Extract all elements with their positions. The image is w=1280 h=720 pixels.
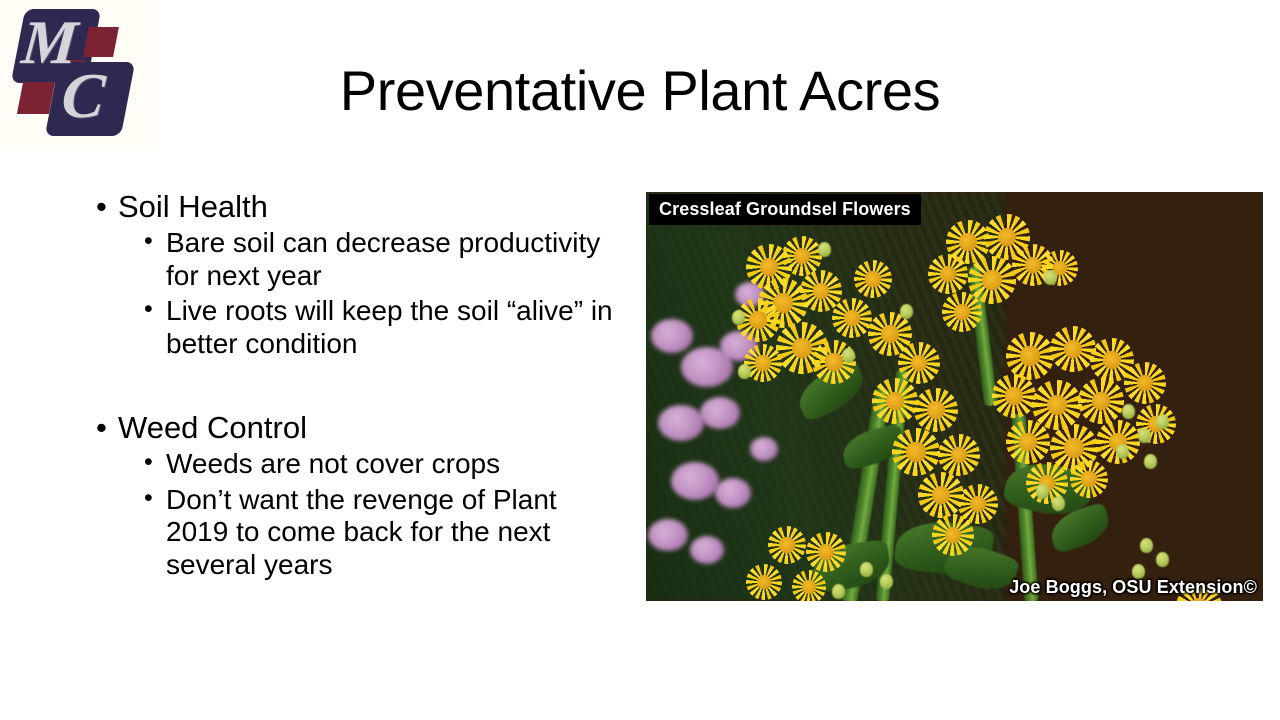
sub-bullet-text: Don’t want the revenge of Plant 2019 to …	[166, 484, 557, 580]
bullet-list-level-2-weed-control: • Weeds are not cover crops • Don’t want…	[118, 448, 620, 581]
photo-flower-bud	[1044, 270, 1057, 285]
photo-flower-bud	[1052, 496, 1065, 511]
photo-flower	[932, 514, 974, 556]
photo-flower-bud	[732, 310, 745, 325]
photo-credit-label: Joe Boggs, OSU Extension©	[1009, 578, 1257, 596]
photo-flower	[1050, 326, 1096, 372]
bullet-label: Soil Health	[118, 189, 268, 224]
bullet-glyph: •	[144, 226, 153, 256]
sub-bullet-item: • Don’t want the revenge of Plant 2019 t…	[139, 484, 620, 581]
bullet-glyph: •	[96, 188, 107, 225]
photo-flower	[892, 428, 940, 476]
sub-bullet-item: • Live roots will keep the soil “alive” …	[139, 295, 620, 360]
logo-accent-square-top	[83, 27, 119, 57]
photo-flower	[928, 254, 968, 294]
photo-flower-bud	[832, 584, 845, 599]
photo-flower-bud	[738, 364, 751, 379]
sub-bullet-text: Bare soil can decrease productivity for …	[166, 227, 600, 290]
photo-flower-bud	[1036, 484, 1049, 499]
photo-flower	[832, 298, 872, 338]
bullet-glyph: •	[144, 483, 153, 513]
photo-flower	[872, 378, 918, 424]
sub-bullet-item: • Weeds are not cover crops	[139, 448, 620, 480]
photo-flower	[938, 434, 980, 476]
organization-logo: M C	[0, 0, 158, 150]
photo-flower	[1078, 378, 1124, 424]
slide-canvas: M C Preventative Plant Acres • Soil Heal…	[0, 0, 1280, 720]
photo-flower	[918, 472, 964, 518]
photo-flower-bud	[842, 348, 855, 363]
photo-flower-bud	[860, 562, 873, 577]
photo-flower	[898, 342, 940, 384]
photo-flower	[854, 260, 892, 298]
bullet-glyph: •	[96, 409, 107, 446]
photo-flower-bud	[1156, 552, 1169, 567]
bullet-glyph: •	[144, 447, 153, 477]
photo-flower	[1006, 420, 1050, 464]
photo-flower-bud	[1140, 538, 1153, 553]
photo-flower-bud	[1116, 444, 1129, 459]
cressleaf-groundsel-photo: Cressleaf Groundsel Flowers Joe Boggs, O…	[646, 192, 1263, 601]
photo-flower	[1124, 362, 1166, 404]
bullet-item-soil-health: • Soil Health • Bare soil can decrease p…	[90, 188, 620, 360]
bullet-glyph: •	[144, 294, 153, 324]
photo-flower	[806, 532, 846, 572]
photo-flower-bud	[818, 242, 831, 257]
photo-flower	[1006, 332, 1054, 380]
bullet-content-column: • Soil Health • Bare soil can decrease p…	[90, 188, 620, 584]
photo-flower	[1070, 460, 1108, 498]
sub-bullet-item: • Bare soil can decrease productivity fo…	[139, 227, 620, 292]
bullet-item-weed-control: • Weed Control • Weeds are not cover cro…	[90, 409, 620, 581]
photo-flower	[768, 526, 806, 564]
bullet-list-level-1: • Soil Health • Bare soil can decrease p…	[90, 188, 620, 581]
bullet-group-spacer	[90, 363, 620, 409]
photo-flower	[914, 388, 958, 432]
photo-flower-bud	[1156, 414, 1169, 429]
photo-flower	[992, 374, 1036, 418]
photo-caption-label: Cressleaf Groundsel Flowers	[649, 194, 921, 225]
photo-flower-bud	[880, 574, 893, 589]
sub-bullet-text: Weeds are not cover crops	[166, 448, 500, 479]
photo-flower-bud	[900, 304, 913, 319]
bullet-label: Weed Control	[118, 410, 307, 445]
sub-bullet-text: Live roots will keep the soil “alive” in…	[166, 295, 613, 358]
bullet-list-level-2-soil-health: • Bare soil can decrease productivity fo…	[118, 227, 620, 360]
page-title: Preventative Plant Acres	[180, 60, 1100, 123]
photo-flower	[942, 292, 982, 332]
photo-flower-bud	[1144, 454, 1157, 469]
photo-flower-bud	[1122, 404, 1135, 419]
logo-letter-c: C	[59, 64, 107, 128]
photo-flower	[746, 564, 782, 600]
photo-flower	[792, 570, 826, 601]
photo-flower-bud	[1138, 428, 1151, 443]
